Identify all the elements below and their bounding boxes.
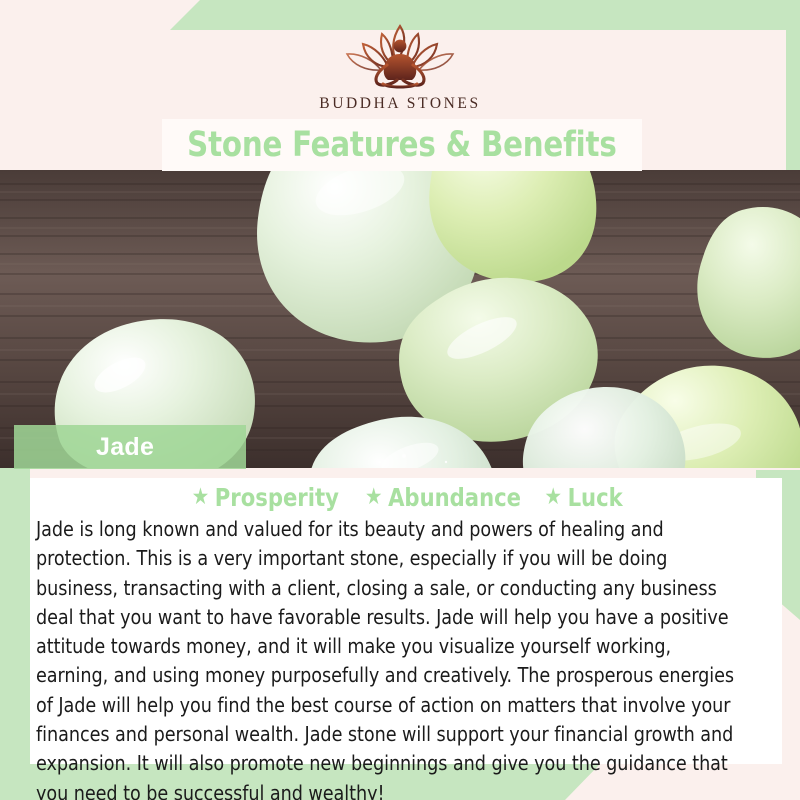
stone-name-label: Jade bbox=[96, 433, 154, 462]
description-card: ★ Prosperity ★ Abundance ★ Luck Jade is … bbox=[30, 478, 782, 764]
benefit-label: Luck bbox=[567, 483, 622, 512]
benefit-item-prosperity: ★ Prosperity bbox=[192, 483, 339, 512]
brand-name: BUDDHA STONES bbox=[319, 95, 480, 113]
star-icon: ★ bbox=[192, 486, 209, 509]
title-banner: Stone Features & Benefits bbox=[162, 119, 642, 171]
benefit-label: Prosperity bbox=[215, 483, 339, 512]
brand-logo: BUDDHA STONES bbox=[0, 18, 800, 122]
description-paragraph: Jade is long known and valued for its be… bbox=[36, 515, 748, 800]
benefits-row: ★ Prosperity ★ Abundance ★ Luck bbox=[30, 478, 782, 514]
stone-photo-image bbox=[0, 170, 800, 468]
star-icon: ★ bbox=[365, 486, 382, 509]
benefit-label: Abundance bbox=[388, 483, 521, 512]
stone-photo bbox=[0, 170, 800, 468]
lotus-meditation-icon bbox=[325, 18, 475, 92]
stone-name-badge: Jade bbox=[14, 425, 246, 469]
benefit-item-luck: ★ Luck bbox=[544, 483, 622, 512]
infographic-root: BUDDHA STONES Stone Features & Benefits bbox=[0, 0, 800, 800]
page-title: Stone Features & Benefits bbox=[187, 125, 616, 165]
benefit-item-abundance: ★ Abundance bbox=[365, 483, 521, 512]
star-icon: ★ bbox=[544, 486, 561, 509]
